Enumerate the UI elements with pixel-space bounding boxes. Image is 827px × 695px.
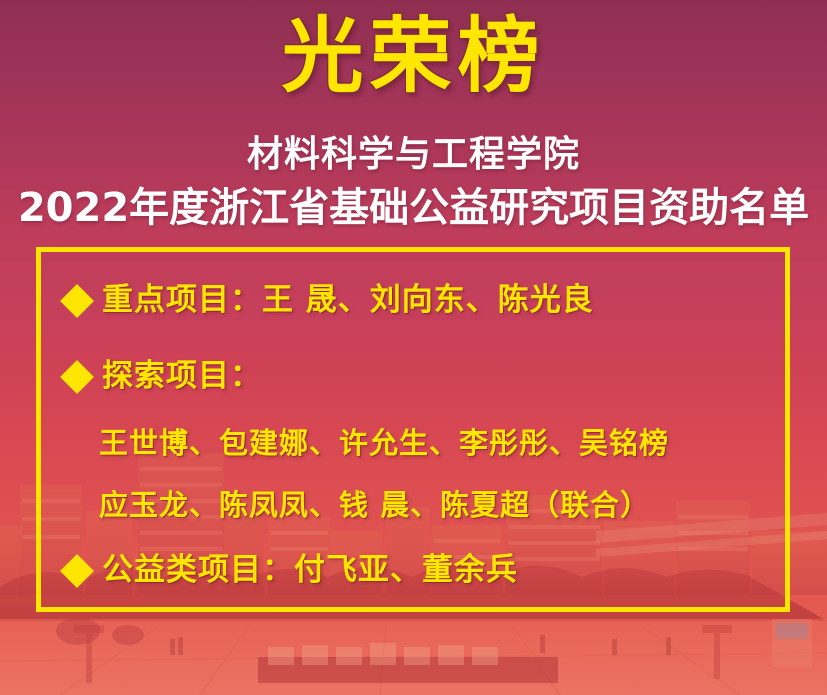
list-item-explore-names-line1: 王世博、包建娜、许允生、李彤彤、吴铭榜 [99,420,669,462]
page-title: 光荣榜 [0,16,827,98]
subtitle-college: 材料科学与工程学院 [0,135,827,175]
diamond-bullet-icon [60,360,94,394]
award-list-box: 重点项目：王 晟、刘向东、陈光良 探索项目： 王世博、包建娜、许允生、李彤彤、吴… [36,247,790,612]
list-item-key-project-text: 重点项目：王 晟、刘向东、陈光良 [102,274,594,319]
list-item-public-welfare-project-text: 公益类项目：付飞亚、董余兵 [102,544,518,589]
list-item-explore-names-line2: 应玉龙、陈凤凤、钱 晨、陈夏超（联合） [99,482,650,524]
diamond-bullet-icon [60,554,94,588]
list-item-explore-project-text: 探索项目： [102,350,262,395]
honor-roll-poster: 光荣榜 材料科学与工程学院 2022年度浙江省基础公益研究项目资助名单 重点项目… [0,0,827,695]
explore-names-line2-text: 应玉龙、陈凤凤、钱 晨、陈夏超（联合） [99,482,650,524]
list-item-explore-project: 探索项目： [63,350,262,395]
list-item-public-welfare-project: 公益类项目：付飞亚、董余兵 [63,544,518,589]
explore-names-line1-text: 王世博、包建娜、许允生、李彤彤、吴铭榜 [99,420,669,462]
diamond-bullet-icon [60,284,94,318]
list-item-key-project: 重点项目：王 晟、刘向东、陈光良 [63,274,594,319]
subtitle-program: 2022年度浙江省基础公益研究项目资助名单 [0,186,827,230]
